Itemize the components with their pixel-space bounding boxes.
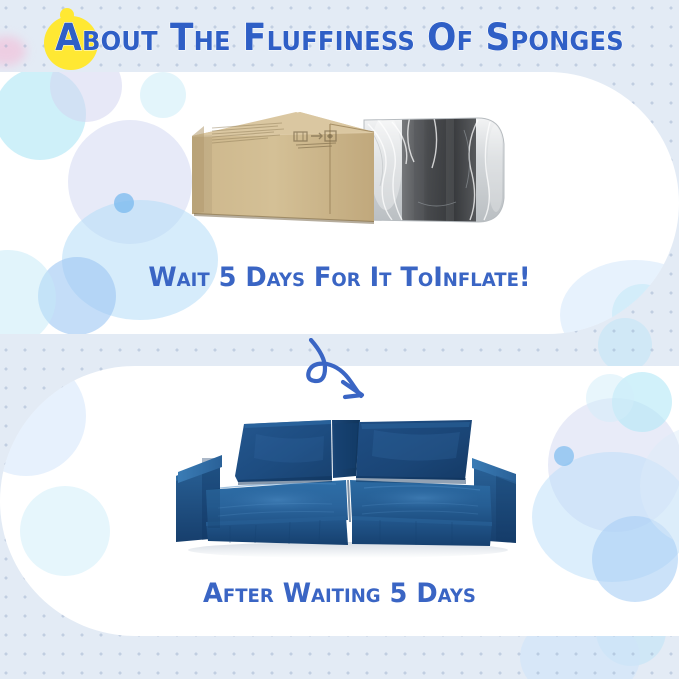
box-illustration bbox=[178, 102, 548, 230]
bubble-cyan-bl-1 bbox=[20, 486, 110, 576]
before-caption: Wait 5 Days For It ToInflate! bbox=[17, 262, 662, 293]
bubble-lavender-1 bbox=[50, 72, 122, 122]
bubble-blue-dot-2 bbox=[554, 446, 574, 466]
header: About The Fluffiness Of Sponges bbox=[0, 0, 679, 74]
bubble-lavender-br-1 bbox=[548, 398, 679, 532]
bubble-blue-br-1 bbox=[532, 452, 679, 582]
curved-down-arrow bbox=[285, 338, 405, 400]
bubble-cyan-br-2 bbox=[586, 374, 634, 422]
bubble-blue-br-3 bbox=[640, 426, 679, 546]
vacuum-roll bbox=[364, 114, 505, 224]
bg-blob-cyan-topright bbox=[598, 318, 652, 372]
bubble-cyan-br-1 bbox=[612, 372, 672, 432]
vacuum-packed-box-photo bbox=[178, 102, 548, 230]
bubble-blue-bl-1 bbox=[0, 366, 86, 476]
infographic-root: About The Fluffiness Of Sponges Wait 5 D… bbox=[0, 0, 679, 679]
bubble-lavender-2 bbox=[68, 120, 192, 244]
before-panel bbox=[0, 72, 679, 334]
couch-illustration bbox=[160, 410, 530, 560]
bubble-cyan-1 bbox=[0, 72, 86, 160]
after-caption: After Waiting 5 Days bbox=[17, 578, 662, 609]
page-title: About The Fluffiness Of Sponges bbox=[24, 0, 655, 74]
inflated-couch-photo bbox=[160, 410, 530, 560]
box-printed-text-block bbox=[210, 123, 284, 146]
bubble-blue-dot-1 bbox=[114, 193, 134, 213]
